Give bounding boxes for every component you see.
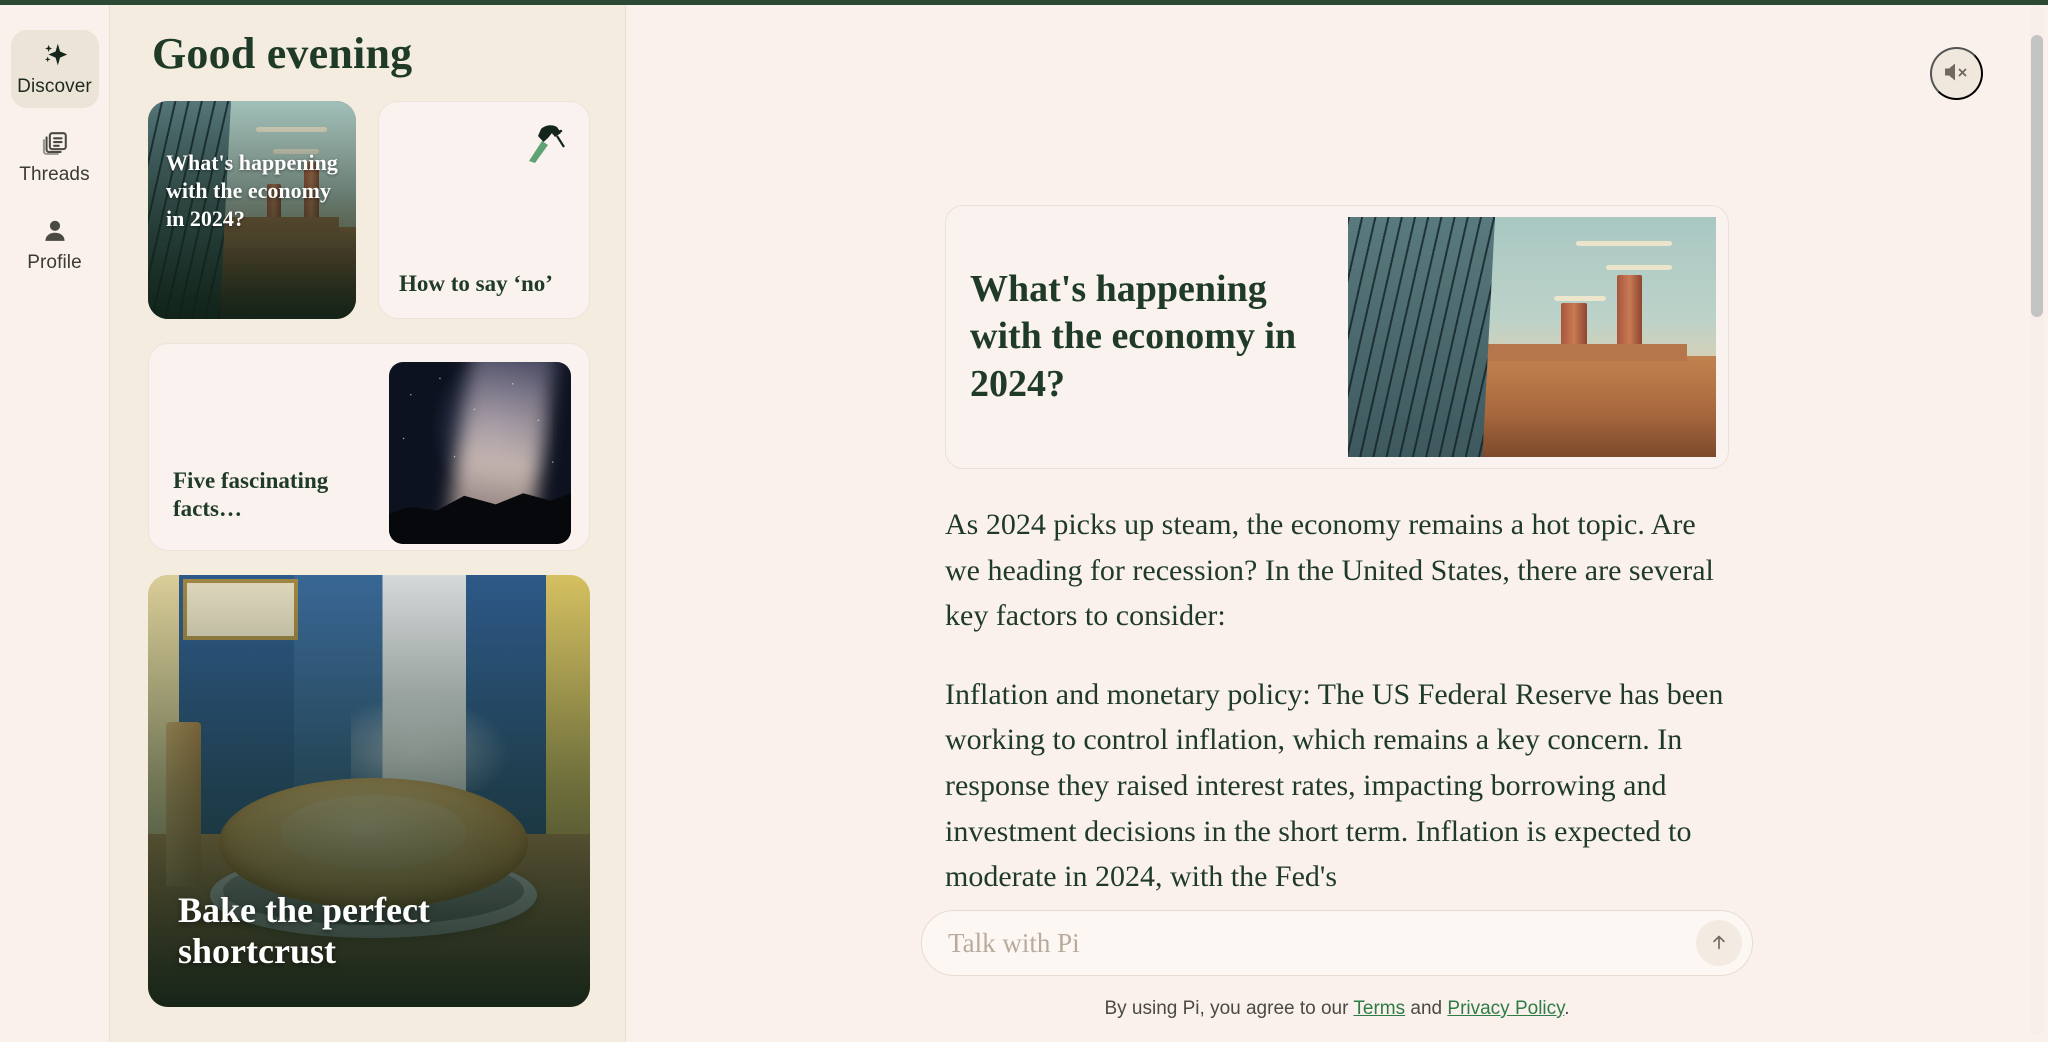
sidebar-item-profile[interactable]: Profile [11,206,99,284]
legal-suffix: . [1564,998,1569,1019]
composer[interactable] [921,910,1753,976]
message-column: What's happening with the economy in 202… [945,205,1729,900]
scrollbar-thumb[interactable] [2031,35,2043,317]
milky-way-photo [389,362,571,544]
discover-card-facts[interactable]: Five fascinating facts… [148,343,590,551]
vertical-scrollbar[interactable] [2030,7,2044,1035]
discover-card-bake-title: Bake the perfect shortcrust [178,890,564,971]
threads-icon [40,128,70,158]
sidebar-item-discover-label: Discover [17,76,92,98]
mute-button[interactable] [1930,47,1983,100]
privacy-policy-link[interactable]: Privacy Policy [1447,998,1564,1019]
discover-card-row-top: What's happening with the economy in 202… [148,101,587,319]
top-accent-bar [0,0,2048,5]
send-button[interactable] [1696,920,1742,966]
message-paragraph-2: Inflation and monetary policy: The US Fe… [945,672,1729,900]
legal-disclaimer: By using Pi, you agree to our Terms and … [1104,998,1569,1020]
discover-card-facts-title: Five fascinating facts… [173,467,373,525]
sidebar-item-threads-label: Threads [19,164,89,186]
terms-link[interactable]: Terms [1353,998,1405,1019]
hammer-icon [517,120,569,169]
sidebar-item-discover[interactable]: Discover [11,30,99,108]
discover-panel: Good evening What's happening with the e… [110,0,626,1042]
arrow-up-icon [1708,931,1730,956]
discover-card-say-no[interactable]: How to say ‘no’ [378,101,590,319]
message-input[interactable] [948,928,1696,959]
sparkle-icon [40,40,70,70]
conversation-pane: What's happening with the economy in 202… [626,0,2048,1042]
sidebar-item-threads[interactable]: Threads [11,118,99,196]
person-icon [40,216,70,246]
discover-card-economy-title: What's happening with the economy in 202… [166,149,342,233]
composer-area: By using Pi, you agree to our Terms and … [626,892,2048,1042]
app-shell: Discover Threads [0,0,2048,1042]
greeting-heading: Good evening [152,28,587,79]
discover-card-say-no-title: How to say ‘no’ [399,270,569,298]
legal-prefix: By using Pi, you agree to our [1104,998,1353,1019]
factory-photo [1348,217,1716,457]
discover-card-bake[interactable]: Bake the perfect shortcrust [148,575,590,1007]
sidebar-item-profile-label: Profile [27,252,82,274]
hero-topic-title: What's happening with the economy in 202… [970,266,1340,407]
primary-nav-rail: Discover Threads [0,0,110,1042]
discover-card-economy[interactable]: What's happening with the economy in 202… [148,101,356,319]
message-paragraph-1: As 2024 picks up steam, the economy rema… [945,502,1729,639]
legal-middle: and [1405,998,1447,1019]
speaker-mute-icon [1942,60,1972,87]
hero-topic-card[interactable]: What's happening with the economy in 202… [945,205,1729,469]
message-scroll-area[interactable]: What's happening with the economy in 202… [626,0,2048,892]
